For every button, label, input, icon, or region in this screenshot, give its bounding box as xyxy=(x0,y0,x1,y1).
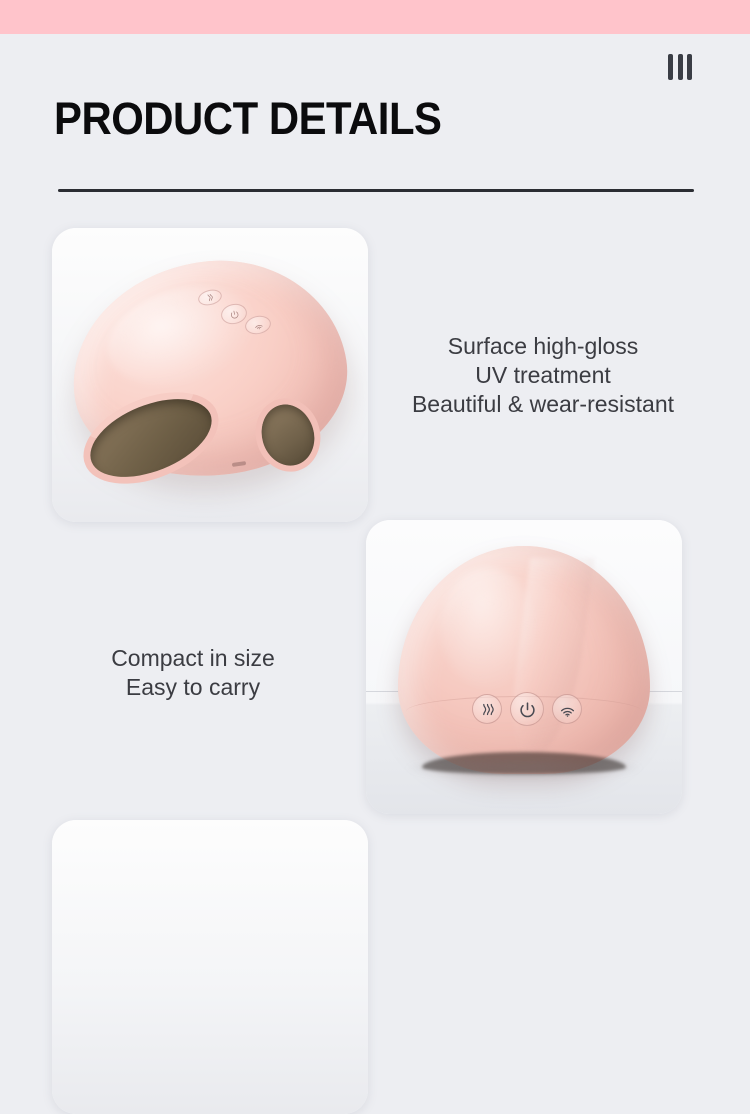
top-color-banner xyxy=(0,0,750,34)
device-front-view xyxy=(398,546,650,790)
product-photo-front-view xyxy=(366,520,682,814)
product-photo-next xyxy=(52,820,368,1114)
device-ground-shadow xyxy=(406,760,642,780)
device-gloss-highlight xyxy=(440,568,536,688)
device-control-row xyxy=(472,692,582,726)
three-vertical-bars-icon xyxy=(668,54,692,80)
page-title: PRODUCT DETAILS xyxy=(54,96,442,141)
device-top-view xyxy=(66,256,352,492)
caption-line: Surface high-gloss xyxy=(398,332,688,361)
caption-line: Easy to carry xyxy=(60,673,326,702)
caption-line: Compact in size xyxy=(60,644,326,673)
feature-caption-compact: Compact in size Easy to carry xyxy=(60,644,326,702)
product-photo-top-view xyxy=(52,228,368,522)
caption-line: Beautiful & wear-resistant xyxy=(398,390,688,419)
heat-button xyxy=(472,694,502,724)
power-button xyxy=(510,692,544,726)
caption-line: UV treatment xyxy=(398,361,688,390)
air-pressure-button xyxy=(552,694,582,724)
photo-backdrop xyxy=(52,820,368,1114)
feature-caption-surface: Surface high-gloss UV treatment Beautifu… xyxy=(398,332,688,419)
header-divider-rule xyxy=(58,189,694,192)
page-header: PRODUCT DETAILS xyxy=(0,34,750,194)
